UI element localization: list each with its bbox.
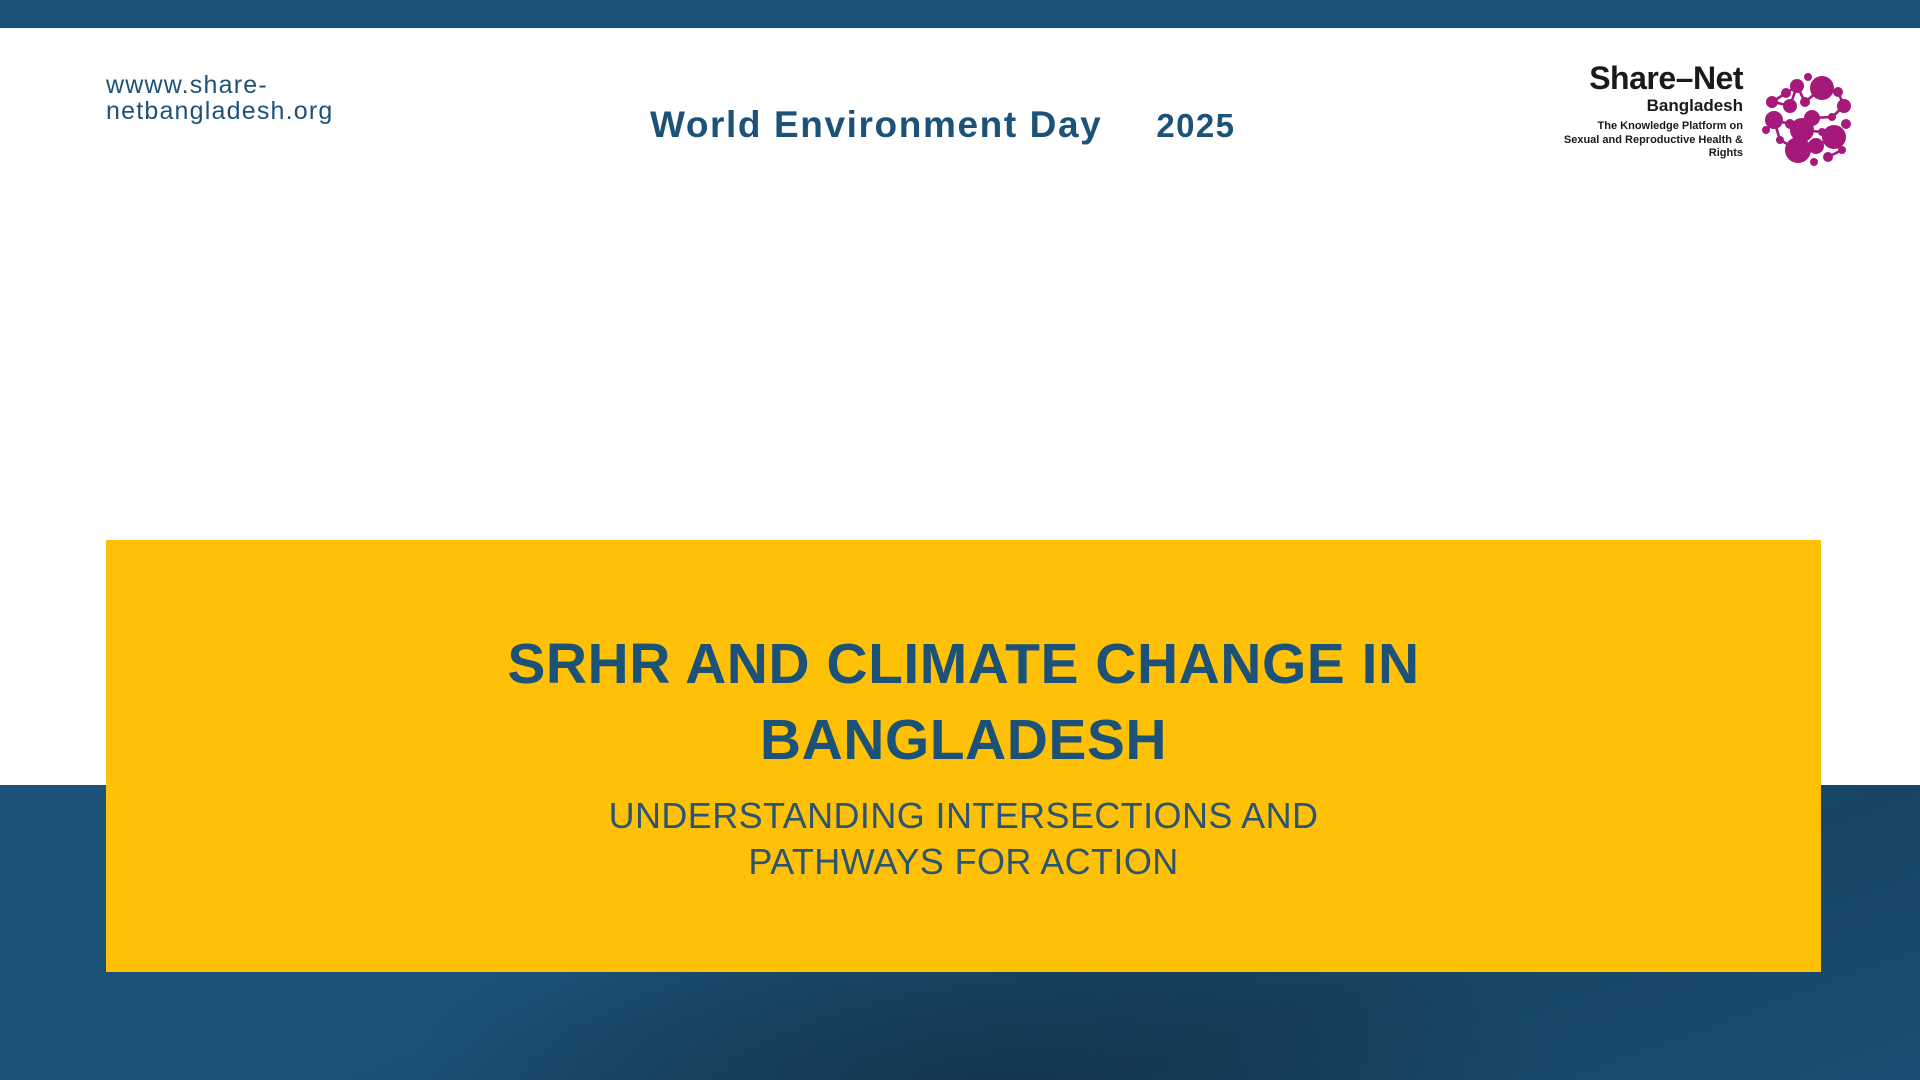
logo-brand-name: Share–Net: [1528, 62, 1743, 94]
share-net-bangladesh-logo: Share–Net Bangladesh The Knowledge Platf…: [1528, 62, 1858, 172]
logo-country-name: Bangladesh: [1528, 96, 1743, 116]
logo-text-block: Share–Net Bangladesh The Knowledge Platf…: [1528, 62, 1743, 161]
network-nodes-icon: [1750, 62, 1858, 170]
slide-subtitle: UNDERSTANDING INTERSECTIONS AND PATHWAYS…: [534, 793, 1394, 887]
title-card: SRHR AND CLIMATE CHANGE IN BANGLADESH UN…: [106, 540, 1821, 972]
logo-tagline: The Knowledge Platform on Sexual and Rep…: [1528, 120, 1743, 160]
header-title-group: World Environment Day 2025: [650, 104, 1235, 146]
event-title: World Environment Day: [650, 104, 1102, 146]
event-year: 2025: [1156, 107, 1235, 145]
site-url-text: wwww.share- netbangladesh.org: [106, 72, 406, 125]
slide-title: SRHR AND CLIMATE CHANGE IN BANGLADESH: [414, 626, 1514, 779]
top-accent-strip: [0, 0, 1920, 28]
presentation-slide: wwww.share- netbangladesh.org World Envi…: [0, 0, 1920, 1080]
